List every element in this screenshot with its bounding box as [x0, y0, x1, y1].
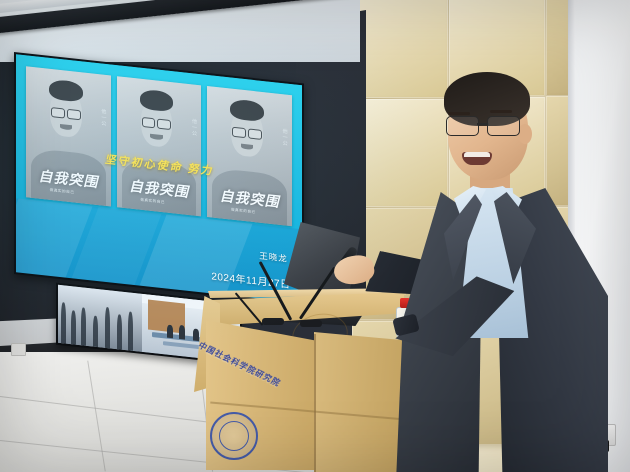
- presentation-photo: 他一公 做真实的自己 自我突围 他一公 做真实的自己 自我突围: [0, 0, 630, 472]
- book-cover: 他一公 做真实的自己 自我突围: [117, 76, 202, 216]
- cover-vertical-title: 他一公: [100, 108, 107, 127]
- microphone-base: [300, 320, 322, 327]
- ear: [518, 124, 532, 144]
- book-cover: 他一公 做真实的自己 自我突围: [207, 86, 292, 226]
- eyebrow: [490, 110, 512, 113]
- cover-vertical-title: 他一公: [191, 118, 198, 137]
- glasses-icon: [142, 117, 171, 129]
- microphone-base: [262, 318, 284, 325]
- eyebrow: [448, 112, 470, 115]
- video-left-pane: [58, 285, 142, 352]
- book-cover: 他一公 做真实的自己 自我突围: [26, 66, 111, 206]
- cover-vertical-title: 他一公: [282, 128, 289, 147]
- glasses-icon: [51, 107, 80, 119]
- podium: 中国社会科学院研究院: [196, 262, 411, 472]
- glasses-icon: [232, 126, 261, 138]
- teeth: [464, 152, 490, 157]
- podium-seam: [314, 334, 316, 472]
- speaker: [386, 72, 616, 472]
- institution-emblem: [210, 412, 258, 460]
- eyeglasses-icon: [446, 116, 520, 134]
